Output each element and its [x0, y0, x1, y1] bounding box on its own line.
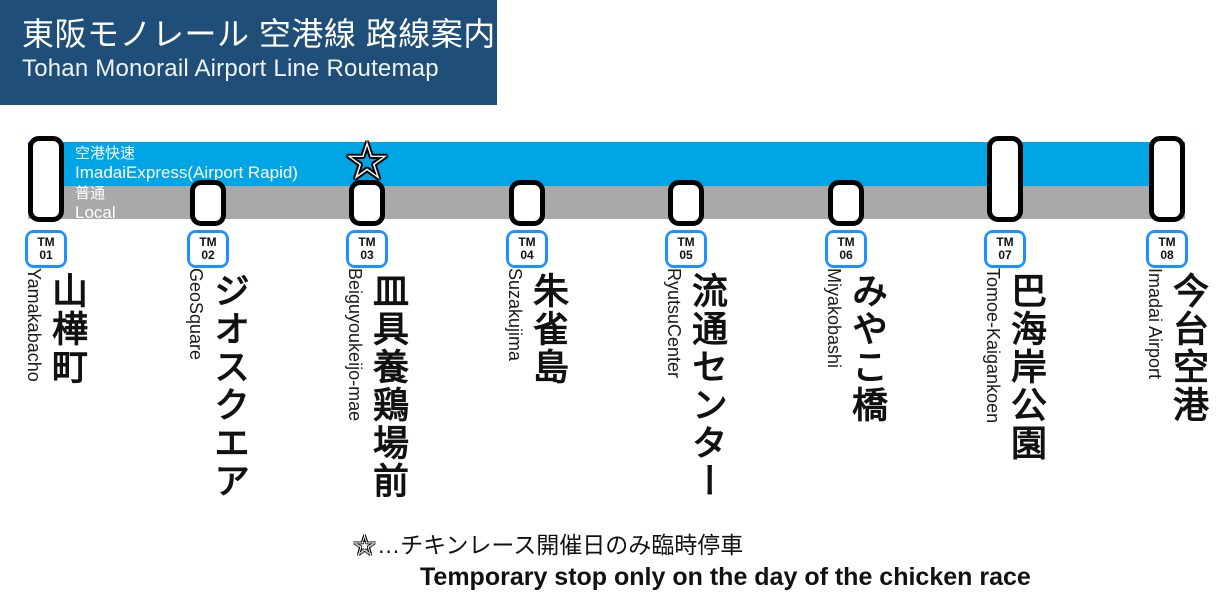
station-number-value: 06 [839, 249, 852, 262]
station-number-badge-inner: TM06 [828, 233, 864, 265]
station-marker[interactable] [509, 180, 545, 226]
station-number-badge-inner: TM05 [668, 233, 704, 265]
station-name-english: GeoSquare [186, 268, 206, 360]
station-name-english: RyutsuCenter [664, 268, 684, 378]
station-marker[interactable] [1149, 136, 1185, 222]
station-marker[interactable] [349, 180, 385, 226]
footnote-japanese-text: …チキンレース開催日のみ臨時停車 [377, 532, 743, 558]
station-number-badge-inner: TM03 [349, 233, 385, 265]
station-number-value: 05 [679, 249, 692, 262]
station-number-badge[interactable]: TM02 [187, 230, 229, 268]
route-map: 空港快速 ImadaiExpress(Airport Rapid) 普通 Loc… [0, 0, 1220, 610]
station-number-value: 04 [520, 249, 533, 262]
station-number-badge-inner: TM02 [190, 233, 226, 265]
footnote-japanese: ☆…チキンレース開催日のみ臨時停車 [352, 530, 1072, 561]
station-marker[interactable] [668, 180, 704, 226]
station-marker[interactable] [987, 136, 1023, 222]
station-name-english: Suzakujima [505, 268, 525, 361]
station-number-value: 07 [998, 249, 1011, 262]
station-number-badge[interactable]: TM08 [1146, 230, 1188, 268]
station-name-japanese: みやこ橋 [846, 272, 888, 424]
station-name-english: Tomoe-Kaigankoen [983, 268, 1003, 423]
station-number-badge[interactable]: TM06 [825, 230, 867, 268]
station-number-badge[interactable]: TM01 [25, 230, 67, 268]
station-name-japanese: 山樺町 [46, 272, 88, 386]
star-icon: ☆ [352, 530, 377, 561]
station-number-badge-inner: TM07 [987, 233, 1023, 265]
station-number-badge-inner: TM08 [1149, 233, 1185, 265]
station-number-value: 03 [360, 249, 373, 262]
station-marker[interactable] [828, 180, 864, 226]
station-number-badge[interactable]: TM04 [506, 230, 548, 268]
station-marker[interactable] [28, 136, 64, 222]
station-number-value: 08 [1160, 249, 1173, 262]
station-name-english: Yamakabacho [24, 268, 44, 382]
station-name-japanese: 今台空港 [1167, 272, 1209, 424]
station-name-english: Beiguyoukeijo-mae [345, 268, 365, 421]
station-number-badge[interactable]: TM03 [346, 230, 388, 268]
station-number-value: 01 [39, 249, 52, 262]
station-name-japanese: 皿具養鶏場前 [367, 272, 409, 500]
station-number-value: 02 [201, 249, 214, 262]
station-number-badge-inner: TM01 [28, 233, 64, 265]
station-marker[interactable] [190, 180, 226, 226]
footnote: ☆…チキンレース開催日のみ臨時停車 Temporary stop only on… [352, 530, 1072, 593]
station-number-badge[interactable]: TM07 [984, 230, 1026, 268]
station-name-japanese: ジオスクエア [208, 272, 250, 500]
station-number-badge[interactable]: TM05 [665, 230, 707, 268]
station-name-english: Miyakobashi [824, 268, 844, 368]
station-name-japanese: 巴海岸公園 [1005, 272, 1047, 462]
station-name-english: Imadai Airport [1145, 268, 1165, 379]
station-number-badge-inner: TM04 [509, 233, 545, 265]
station-name-japanese: 朱雀島 [527, 272, 569, 386]
station-name-japanese: 流通センター [686, 272, 728, 500]
footnote-english: Temporary stop only on the day of the ch… [420, 561, 1072, 593]
